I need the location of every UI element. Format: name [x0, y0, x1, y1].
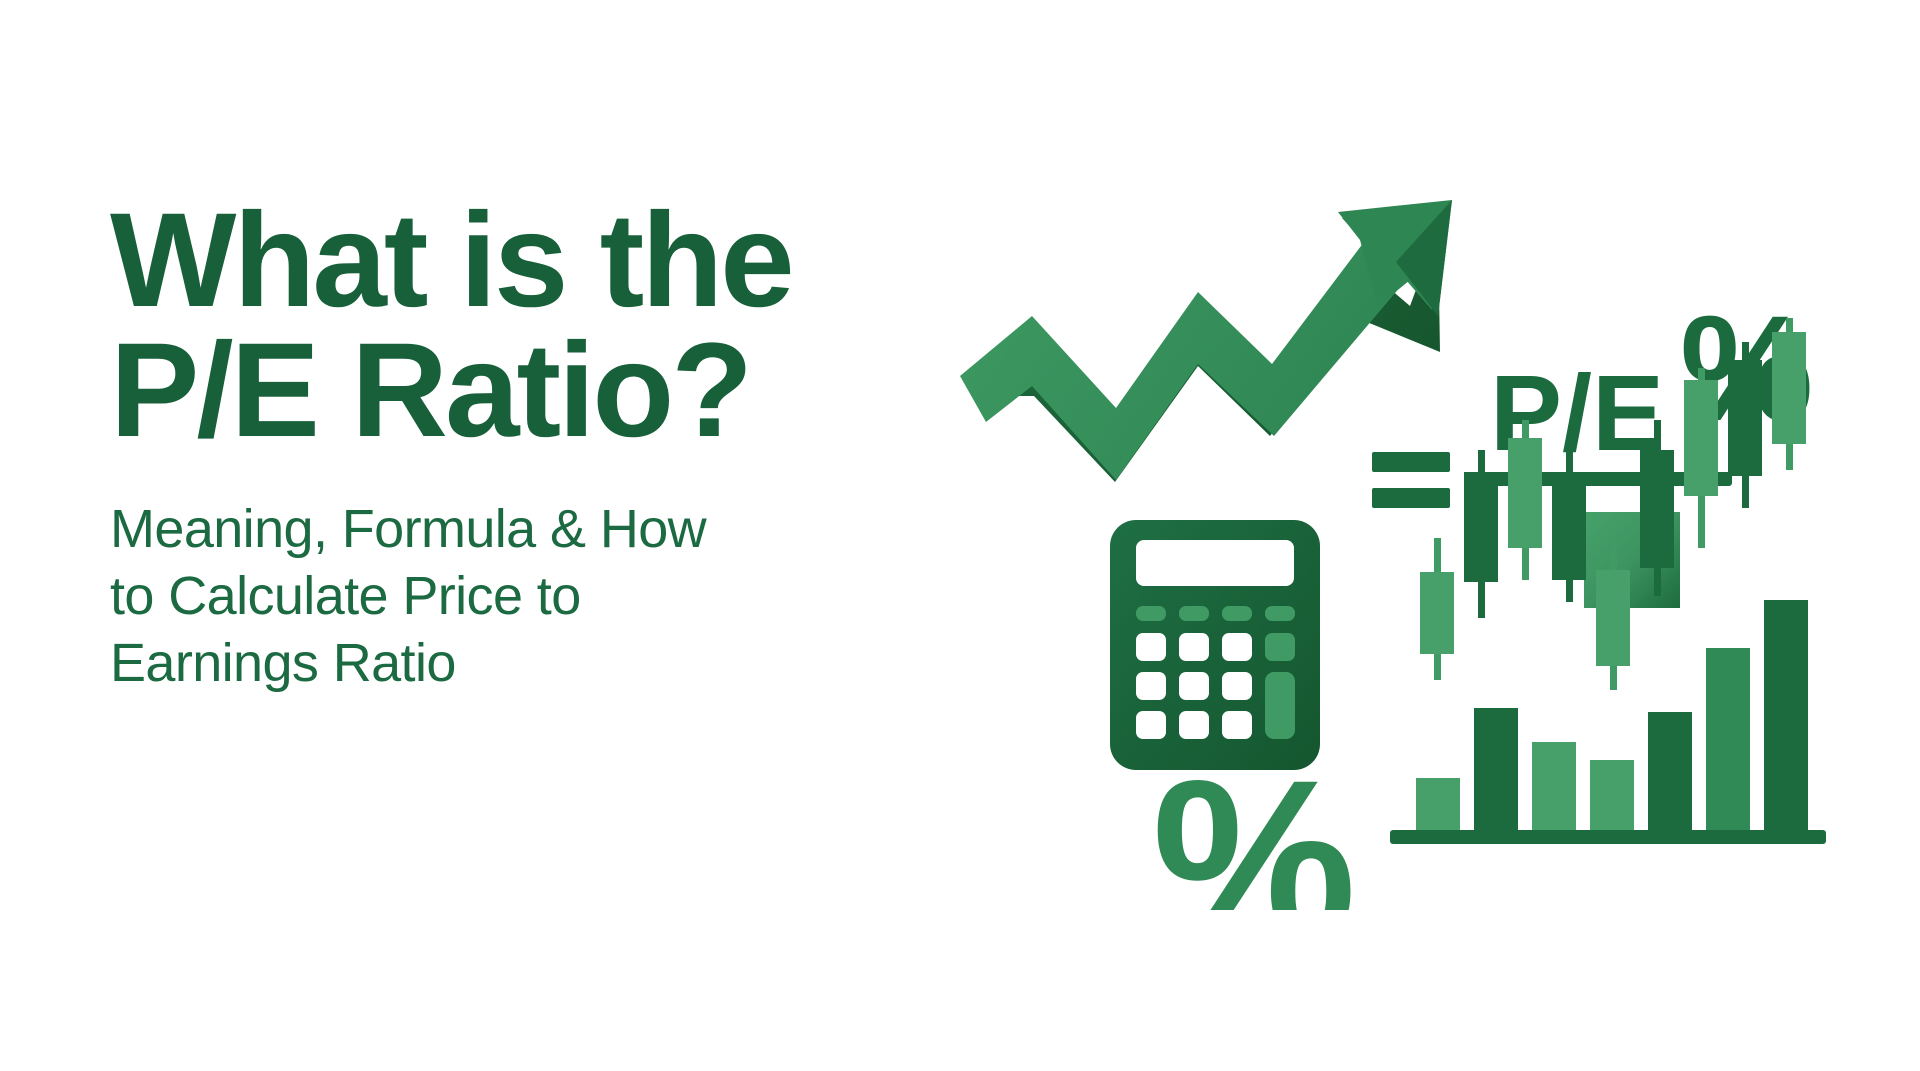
calculator-function-key — [1222, 606, 1252, 621]
page-title-line-1: What is the — [110, 196, 930, 326]
candle-body — [1552, 476, 1586, 580]
candle-body — [1508, 438, 1542, 548]
calculator-function-key — [1179, 606, 1209, 621]
calculator-key — [1265, 633, 1295, 661]
page-subtitle: Meaning, Formula & How to Calculate Pric… — [110, 496, 930, 697]
page-subtitle-line-3: Earnings Ratio — [110, 630, 930, 697]
calculator-key — [1136, 633, 1166, 661]
candle-body — [1464, 472, 1498, 582]
calculator-enter-key — [1265, 672, 1295, 739]
candle-body — [1728, 360, 1762, 476]
bar-item — [1474, 708, 1518, 832]
bar-item — [1532, 742, 1576, 832]
percent-bottom-left-glyph: % — [1152, 732, 1357, 910]
page-title-line-2: P/E Ratio? — [110, 326, 930, 456]
bar-item — [1416, 778, 1460, 832]
bar-chart-baseline — [1390, 830, 1826, 844]
calculator-key — [1136, 672, 1166, 700]
bar-item — [1706, 648, 1750, 832]
banner-root: What is the P/E Ratio? Meaning, Formula … — [0, 0, 1920, 1071]
calculator-display — [1136, 540, 1294, 586]
calculator-key — [1179, 672, 1209, 700]
page-title: What is the P/E Ratio? — [110, 196, 930, 456]
calculator-key — [1222, 672, 1252, 700]
page-subtitle-line-1: Meaning, Formula & How — [110, 496, 930, 563]
finance-growth-illustration: % P/E — [940, 120, 1840, 910]
equals-sign-icon — [1372, 452, 1450, 508]
calculator-key — [1179, 633, 1209, 661]
percent-bottom-left-icon: % — [1152, 732, 1357, 910]
calculator-function-key — [1265, 606, 1295, 621]
calculator-function-key — [1136, 606, 1166, 621]
text-block: What is the P/E Ratio? Meaning, Formula … — [110, 196, 930, 697]
zigzag-up-arrow-icon — [960, 200, 1452, 482]
candle-body — [1772, 332, 1806, 444]
calculator-key — [1222, 633, 1252, 661]
bar-item — [1648, 712, 1692, 832]
candle-body — [1596, 570, 1630, 666]
page-subtitle-line-2: to Calculate Price to — [110, 563, 930, 630]
candle-body — [1640, 450, 1674, 568]
bar-item — [1764, 600, 1808, 832]
candle-body — [1420, 572, 1454, 654]
candle-body — [1684, 380, 1718, 496]
bar-item — [1590, 760, 1634, 832]
